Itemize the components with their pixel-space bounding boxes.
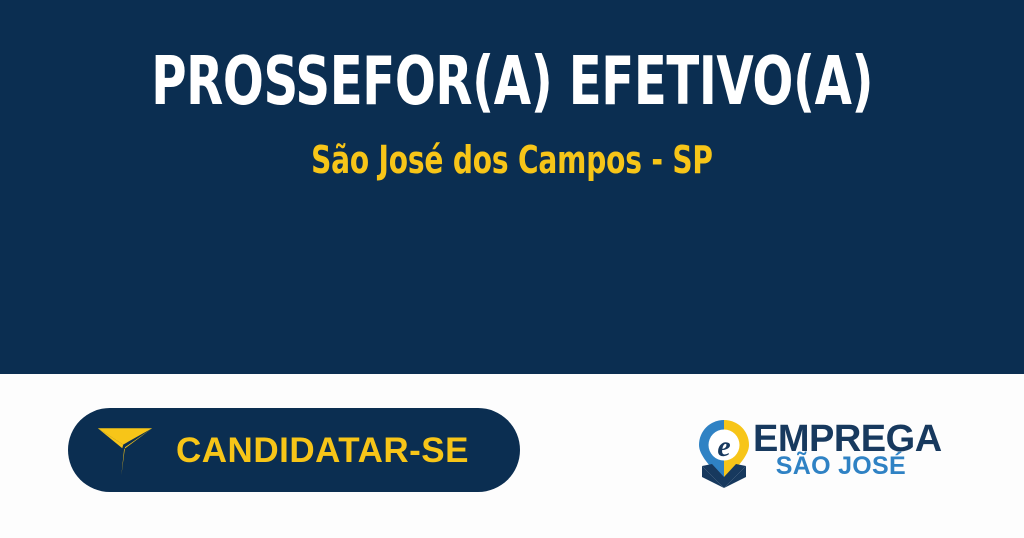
emprega-logo[interactable]: e EMPREGA SÃO JOSÉ — [698, 418, 908, 492]
job-posting-banner: PROSSEFOR(A) EFETIVO(A) São José dos Cam… — [0, 0, 1024, 538]
apply-button-label: CANDIDATAR-SE — [176, 433, 469, 468]
map-pin-icon: e — [698, 420, 750, 488]
location-subtitle: São José dos Campos - SP — [311, 141, 713, 179]
paper-plane-icon — [96, 421, 154, 479]
hero-section: PROSSEFOR(A) EFETIVO(A) São José dos Cam… — [0, 0, 1024, 374]
brand-city: SÃO JOSÉ — [776, 454, 906, 479]
page-title: PROSSEFOR(A) EFETIVO(A) — [151, 48, 873, 115]
svg-text:e: e — [717, 430, 730, 463]
apply-button[interactable]: CANDIDATAR-SE — [68, 408, 520, 492]
paper-plane-icon-svg — [96, 421, 154, 479]
brand-wordmark: EMPREGA SÃO JOSÉ — [753, 418, 908, 490]
